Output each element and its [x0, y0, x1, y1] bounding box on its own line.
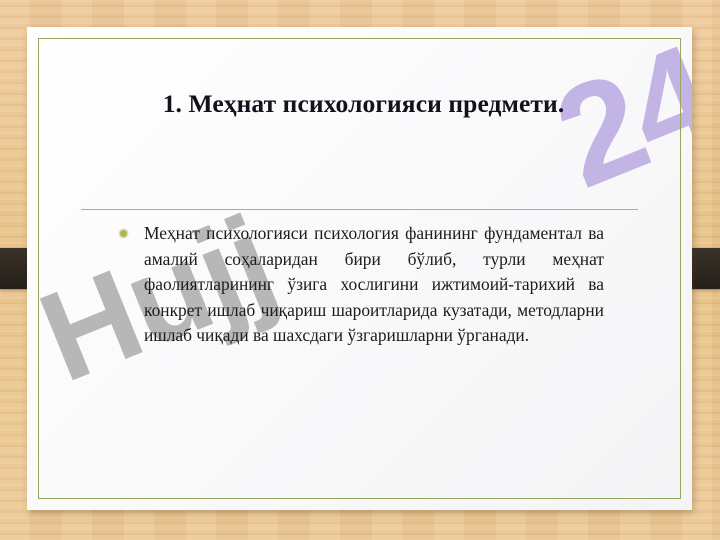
- slide-card: Hujj 24 1. Меҳнат психологияси предмети.…: [27, 27, 692, 510]
- slide-content: 1. Меҳнат психологияси предмети. Меҳнат …: [27, 27, 692, 510]
- slide-title: 1. Меҳнат психологияси предмети.: [75, 89, 652, 120]
- title-divider: [81, 209, 638, 210]
- slide-body: Меҳнат психологияси психология фанининг …: [117, 221, 604, 349]
- bullet-text: Меҳнат психологияси психология фанининг …: [144, 221, 604, 349]
- bullet-dot-icon: [120, 230, 127, 237]
- bullet-item: Меҳнат психологияси психология фанининг …: [117, 221, 604, 349]
- slide-stage: Hujj 24 1. Меҳнат психологияси предмети.…: [0, 0, 720, 540]
